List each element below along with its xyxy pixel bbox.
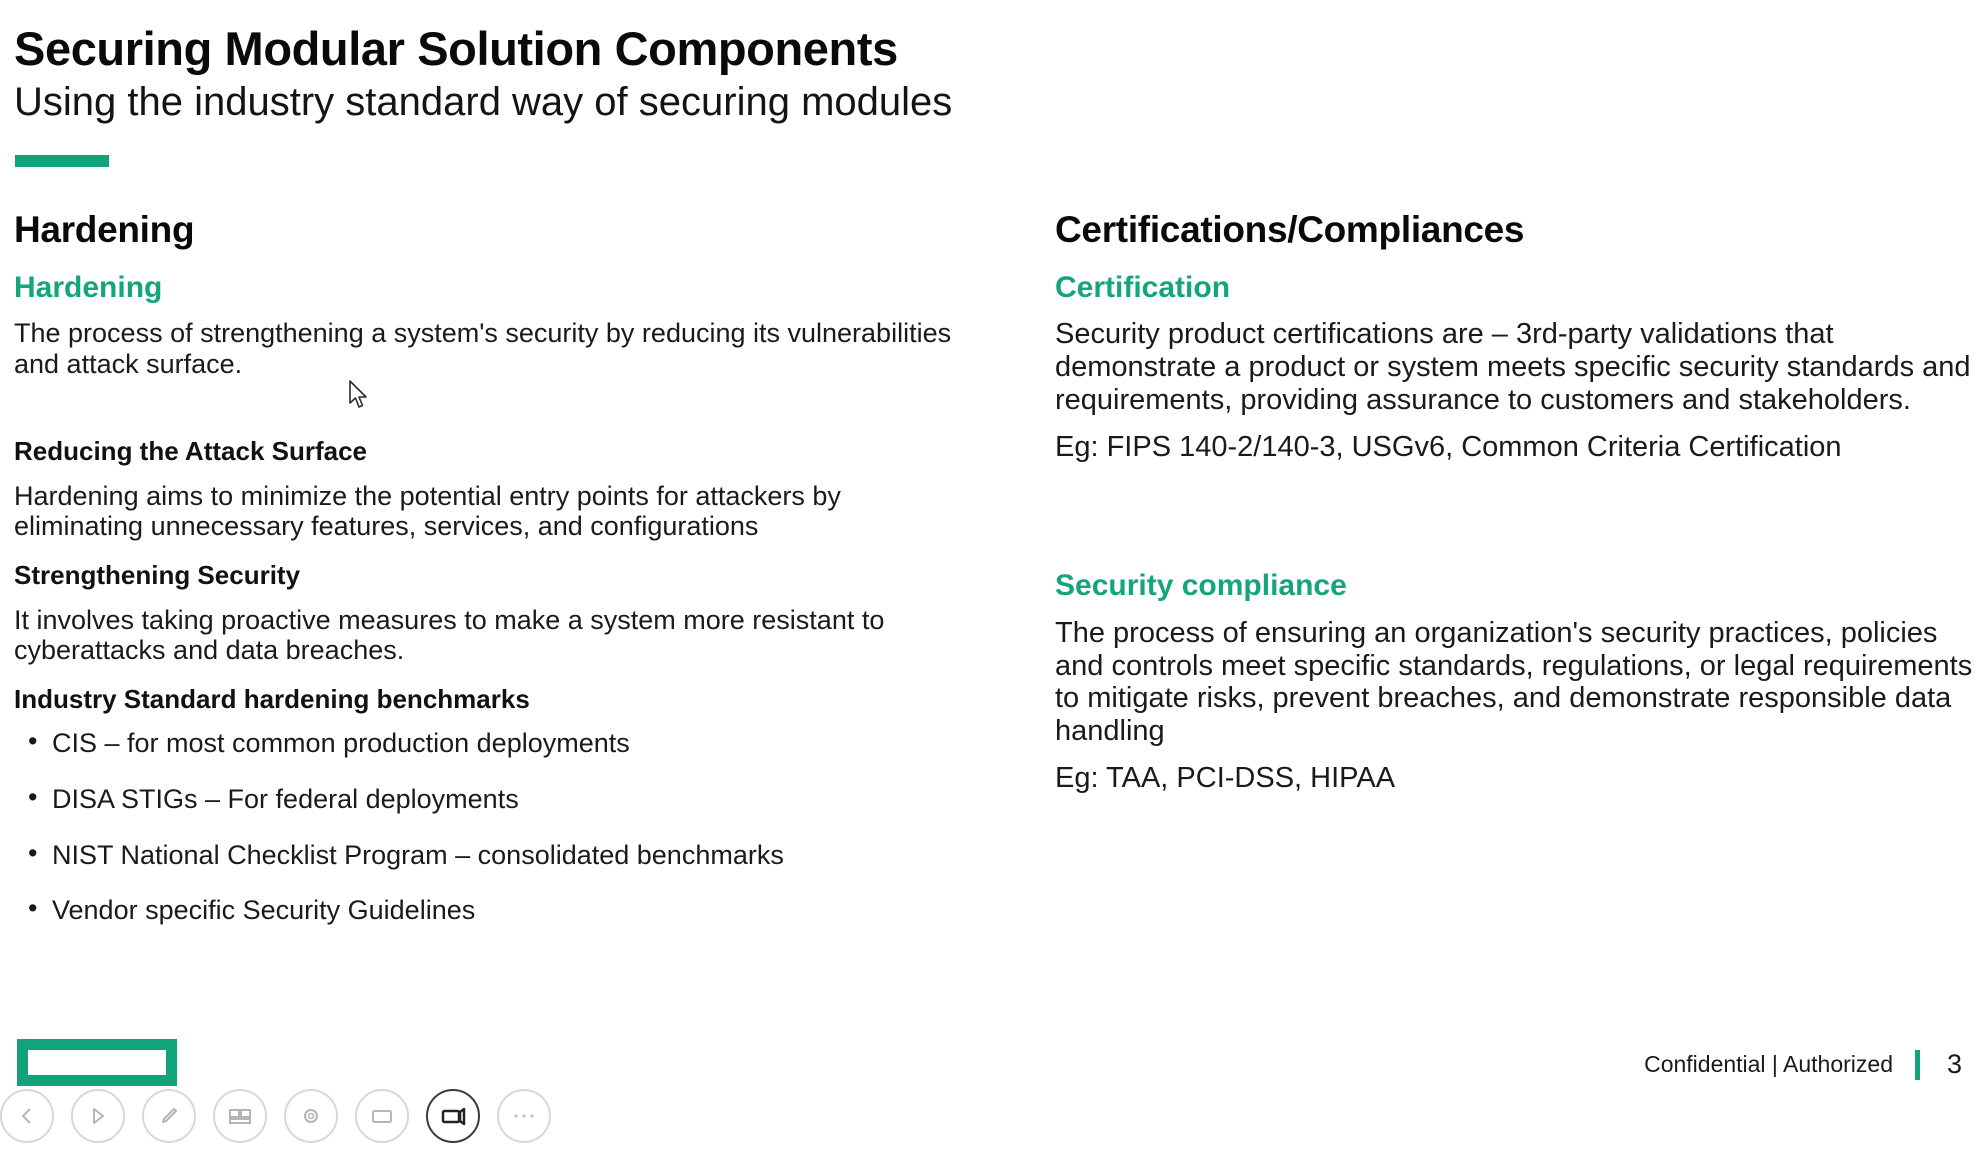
security-compliance-green-heading: Security compliance [1055,569,1980,603]
list-item: Vendor specific Security Guidelines [14,896,974,926]
left-column-heading: Hardening [14,210,974,251]
title-block: Securing Modular Solution Components Usi… [14,24,1914,125]
presenter-toolbar[interactable] [0,1082,551,1150]
laser-pointer-icon[interactable] [284,1089,338,1143]
screen-share-icon[interactable] [426,1089,480,1143]
hardening-green-heading: Hardening [14,271,974,305]
confidentiality-label: Confidential | Authorized [1644,1051,1893,1078]
right-column-heading: Certifications/Compliances [1055,210,1980,251]
section-heading-reducing-attack-surface: Reducing the Attack Surface [14,437,974,467]
more-options-icon[interactable] [497,1089,551,1143]
page-number: 3 [1942,1049,1962,1080]
section-heading-industry-benchmarks: Industry Standard hardening benchmarks [14,685,974,715]
right-column: Certifications/Compliances Certification… [1055,210,1980,795]
benchmarks-list: CIS – for most common production deploym… [14,729,974,926]
list-item: DISA STIGs – For federal deployments [14,785,974,815]
security-compliance-body-text: The process of ensuring an organization'… [1055,617,1980,748]
footer-right: Confidential | Authorized 3 [1644,1049,1962,1080]
hardening-intro-text: The process of strengthening a system's … [14,318,974,378]
play-next-icon[interactable] [71,1089,125,1143]
slide-canvas: Securing Modular Solution Components Usi… [0,0,1980,1116]
certification-green-heading: Certification [1055,271,1980,305]
list-item: NIST National Checklist Program – consol… [14,841,974,871]
all-slides-grid-icon[interactable] [213,1089,267,1143]
hpe-logo [17,1039,177,1086]
section-body-reducing-attack-surface: Hardening aims to minimize the potential… [14,481,974,541]
previous-slide-icon[interactable] [0,1089,54,1143]
security-compliance-example-text: Eg: TAA, PCI-DSS, HIPAA [1055,762,1980,795]
pen-tool-icon[interactable] [142,1089,196,1143]
certification-body-text: Security product certifications are – 3r… [1055,318,1980,416]
left-column: Hardening Hardening The process of stren… [14,210,974,952]
list-item: CIS – for most common production deploym… [14,729,974,759]
footer-separator [1915,1050,1920,1080]
section-heading-strengthening-security: Strengthening Security [14,561,974,591]
page-subtitle: Using the industry standard way of secur… [14,80,1914,125]
title-accent-bar [15,155,109,167]
certification-example-text: Eg: FIPS 140-2/140-3, USGv6, Common Crit… [1055,431,1980,464]
page-title: Securing Modular Solution Components [14,24,1914,74]
section-body-strengthening-security: It involves taking proactive measures to… [14,605,974,665]
blank-screen-icon[interactable] [355,1089,409,1143]
